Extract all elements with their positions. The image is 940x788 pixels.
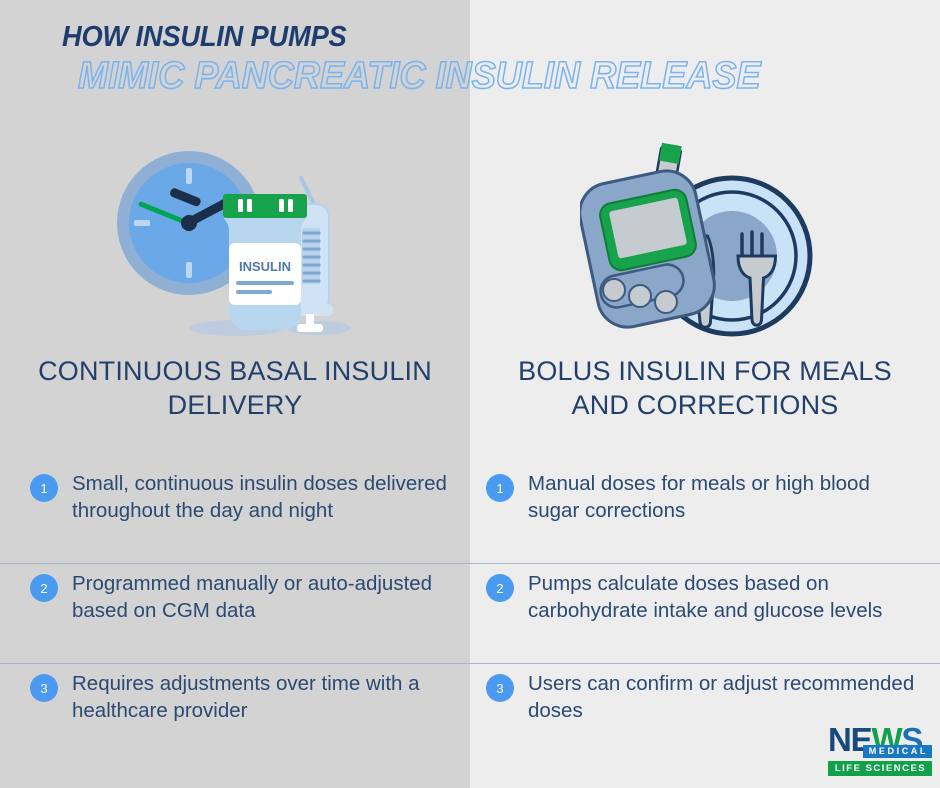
news-medical-logo[interactable]: NEWS MEDICAL LIFE SCIENCES — [828, 725, 932, 777]
bullet-text: Manual doses for meals or high blood sug… — [528, 466, 926, 524]
bullet-badge: 3 — [30, 674, 58, 702]
glucose-meter-plate-cutlery-illustration — [470, 130, 940, 355]
meter-button-3 — [655, 291, 677, 313]
bullet-badge: 1 — [30, 474, 58, 502]
meter-button-2 — [629, 285, 651, 307]
bullet-text: Programmed manually or auto-adjusted bas… — [72, 566, 456, 624]
column-basal: INSULIN CONTINUOUS BASAL INSULIN DELIVER… — [0, 130, 470, 423]
bullet-badge: 1 — [486, 474, 514, 502]
test-strip-tip — [659, 142, 682, 163]
bullet-badge: 2 — [30, 574, 58, 602]
insulin-vial-label — [229, 243, 301, 305]
meter-button-1 — [603, 279, 625, 301]
list-item: 1 Manual doses for meals or high blood s… — [470, 466, 940, 566]
bullet-text: Small, continuous insulin doses delivere… — [72, 466, 456, 524]
bullet-badge: 2 — [486, 574, 514, 602]
bullet-badge: 3 — [486, 674, 514, 702]
column-heading-bolus: BOLUS INSULIN FOR MEALS AND CORRECTIONS — [470, 355, 940, 423]
clock-insulin-vial-syringe-illustration: INSULIN — [0, 130, 470, 355]
bullet-text: Users can confirm or adjust recommended … — [528, 666, 926, 724]
logo-life-sciences-bar: LIFE SCIENCES — [828, 761, 932, 777]
list-item: 3 Requires adjustments over time with a … — [0, 666, 470, 766]
insulin-vial-label-text: INSULIN — [239, 259, 291, 274]
list-item: 2 Programmed manually or auto-adjusted b… — [0, 566, 470, 666]
title-line-2: MIMIC PANCREATIC INSULIN RELEASE — [78, 57, 897, 97]
title-block: HOW INSULIN PUMPS MIMIC PANCREATIC INSUL… — [0, 0, 940, 97]
logo-medical-bar: MEDICAL — [863, 745, 932, 758]
bullet-list-basal: 1 Small, continuous insulin doses delive… — [0, 466, 470, 766]
list-item: 1 Small, continuous insulin doses delive… — [0, 466, 470, 566]
column-heading-basal: CONTINUOUS BASAL INSULIN DELIVERY — [0, 355, 470, 423]
logo-letter-n: N — [828, 721, 851, 758]
title-line-1: HOW INSULIN PUMPS — [62, 22, 887, 52]
list-item: 2 Pumps calculate doses based on carbohy… — [470, 566, 940, 666]
column-bolus: BOLUS INSULIN FOR MEALS AND CORRECTIONS — [470, 130, 940, 423]
bullet-text: Requires adjustments over time with a he… — [72, 666, 456, 724]
infographic-root: HOW INSULIN PUMPS MIMIC PANCREATIC INSUL… — [0, 0, 940, 788]
insulin-vial-cap — [223, 194, 307, 218]
bullet-text: Pumps calculate doses based on carbohydr… — [528, 566, 926, 624]
